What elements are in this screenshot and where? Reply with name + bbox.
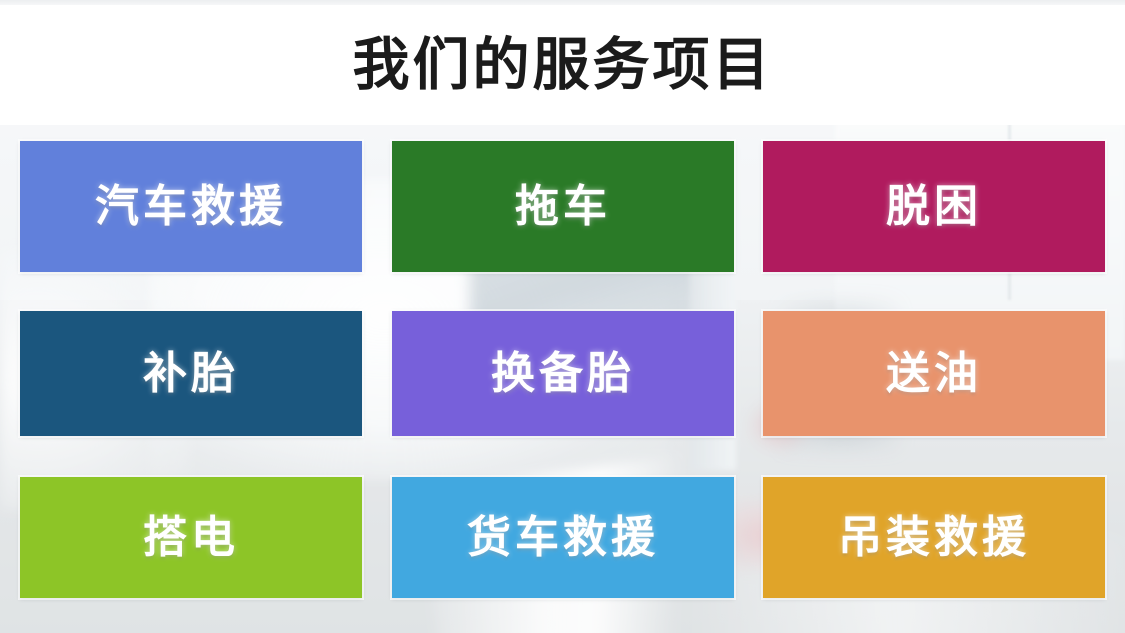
service-tile-car-rescue[interactable]: 汽车救援 [20, 141, 362, 272]
service-tile-label: 补胎 [143, 352, 239, 396]
service-tile-label: 汽车救援 [95, 185, 287, 229]
page-title: 我们的服务项目 [353, 37, 773, 94]
service-tile-label: 脱困 [886, 185, 982, 229]
service-tile-label: 送油 [886, 352, 982, 396]
service-tile-spare-tire-change[interactable]: 换备胎 [392, 311, 734, 436]
service-tile-label: 拖车 [515, 185, 611, 229]
service-tile-label: 吊装救援 [838, 516, 1030, 560]
service-tile-towing[interactable]: 拖车 [392, 141, 734, 272]
service-tile-tire-repair[interactable]: 补胎 [20, 311, 362, 436]
service-poster: 我们的服务项目 汽车救援 拖车 脱困 补胎 换备胎 送油 搭电 货车救援 吊装救… [0, 0, 1125, 633]
header-band: 我们的服务项目 [0, 5, 1125, 125]
service-tile-extrication[interactable]: 脱困 [763, 141, 1105, 272]
service-tile-label: 搭电 [143, 516, 239, 560]
service-tile-truck-rescue[interactable]: 货车救援 [392, 477, 734, 598]
service-tile-fuel-delivery[interactable]: 送油 [763, 311, 1105, 436]
service-tile-crane-rescue[interactable]: 吊装救援 [763, 477, 1105, 598]
service-tile-label: 换备胎 [491, 352, 635, 396]
service-grid: 汽车救援 拖车 脱困 补胎 换备胎 送油 搭电 货车救援 吊装救援 [20, 141, 1105, 598]
service-tile-jump-start[interactable]: 搭电 [20, 477, 362, 598]
service-tile-label: 货车救援 [467, 516, 659, 560]
